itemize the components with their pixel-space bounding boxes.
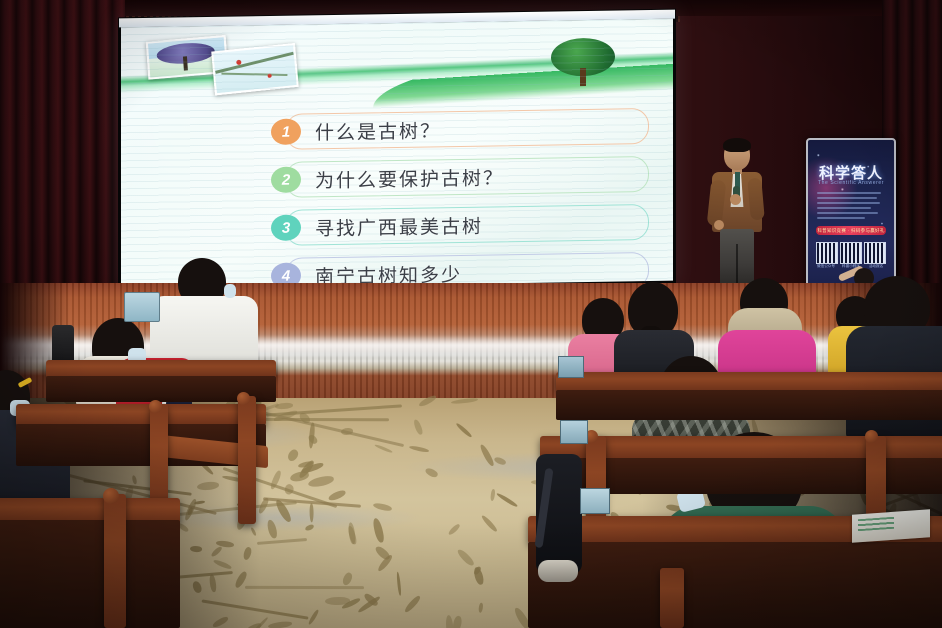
branch-icon [215,52,294,74]
agenda-text-2: 为什么要保护古树？ [315,163,504,193]
seat-knob-left-1 [149,400,162,413]
presenter-arm-right [747,177,765,220]
carpet-leaf-motif [309,503,313,522]
bench-row-left-front-face [0,520,180,628]
presenter [708,140,764,288]
banner-subtitle: The Scientific Answerer [808,180,894,186]
banner-text-line [817,202,880,204]
slide-photo-red-flower-branch [211,43,299,95]
tablet-right-2 [560,420,588,444]
banner-text-line [817,207,871,209]
seat-knob-left-front [103,488,119,504]
presenter-hand [730,194,741,205]
tablet-right-3 [580,488,610,514]
qr-code-icon-3 [864,242,886,264]
banner-body-text [817,192,885,222]
agenda-text-1: 什么是古树？ [315,116,441,145]
tablet-device [124,292,160,322]
seat-knob-left-2 [237,392,250,405]
carpet-leaf-motif [325,597,350,606]
bench-row-right-back-front [556,390,942,420]
tree-trunk-icon [580,68,586,86]
qr-code-icon-2 [840,242,862,264]
slide-agenda-item-3: 3 寻找广西最美古树 [269,201,639,249]
slide-agenda-list: 1 什么是古树？ 2 为什么要保护古树？ 3 寻找广西最美古树 4 南宁古树知多… [269,105,639,289]
seat-back-left-front [104,494,126,628]
carpet-branch-motif [245,586,364,589]
tablet-right-1 [558,356,584,378]
red-flower-icon-2 [267,74,271,78]
seat-back-left-2 [238,396,256,524]
seat-knob-right-2 [865,430,878,443]
qr-caption-1: 微信公众号 [816,264,836,269]
banner-text-line [817,197,877,199]
face-mask [224,284,236,298]
agenda-text-3: 寻找广西最美古树 [315,211,483,241]
qr-code-icon-1 [816,242,838,264]
lecture-hall-scene: 1 什么是古树？ 2 为什么要保护古树？ 3 寻找广西最美古树 4 南宁古树知多… [0,0,942,628]
seat-back-right-front [660,568,684,628]
slide-agenda-item-2: 2 为什么要保护古树？ [269,153,639,201]
handout-green-print [858,517,894,532]
bench-row-right-back [556,372,942,392]
banner-text-line [817,192,881,194]
banner-text-line [817,217,865,219]
slide-agenda-item-1: 1 什么是古树？ [269,105,639,153]
banner-text-line [817,212,878,214]
shoe [538,560,578,582]
bench-row-left-mid [16,404,266,426]
slide-tree-illustration [551,38,615,89]
bench-row-right-front-face [528,542,942,628]
banner-promo-strip: 科普知识竞赛 · 扫码参与赢好礼 [816,226,886,235]
branch-icon-secondary [221,73,287,76]
projection-screen: 1 什么是古树？ 2 为什么要保护古树？ 3 寻找广西最美古树 4 南宁古树知多… [121,19,673,290]
banner-qr-row [816,242,886,264]
presenter-hair [723,138,751,152]
